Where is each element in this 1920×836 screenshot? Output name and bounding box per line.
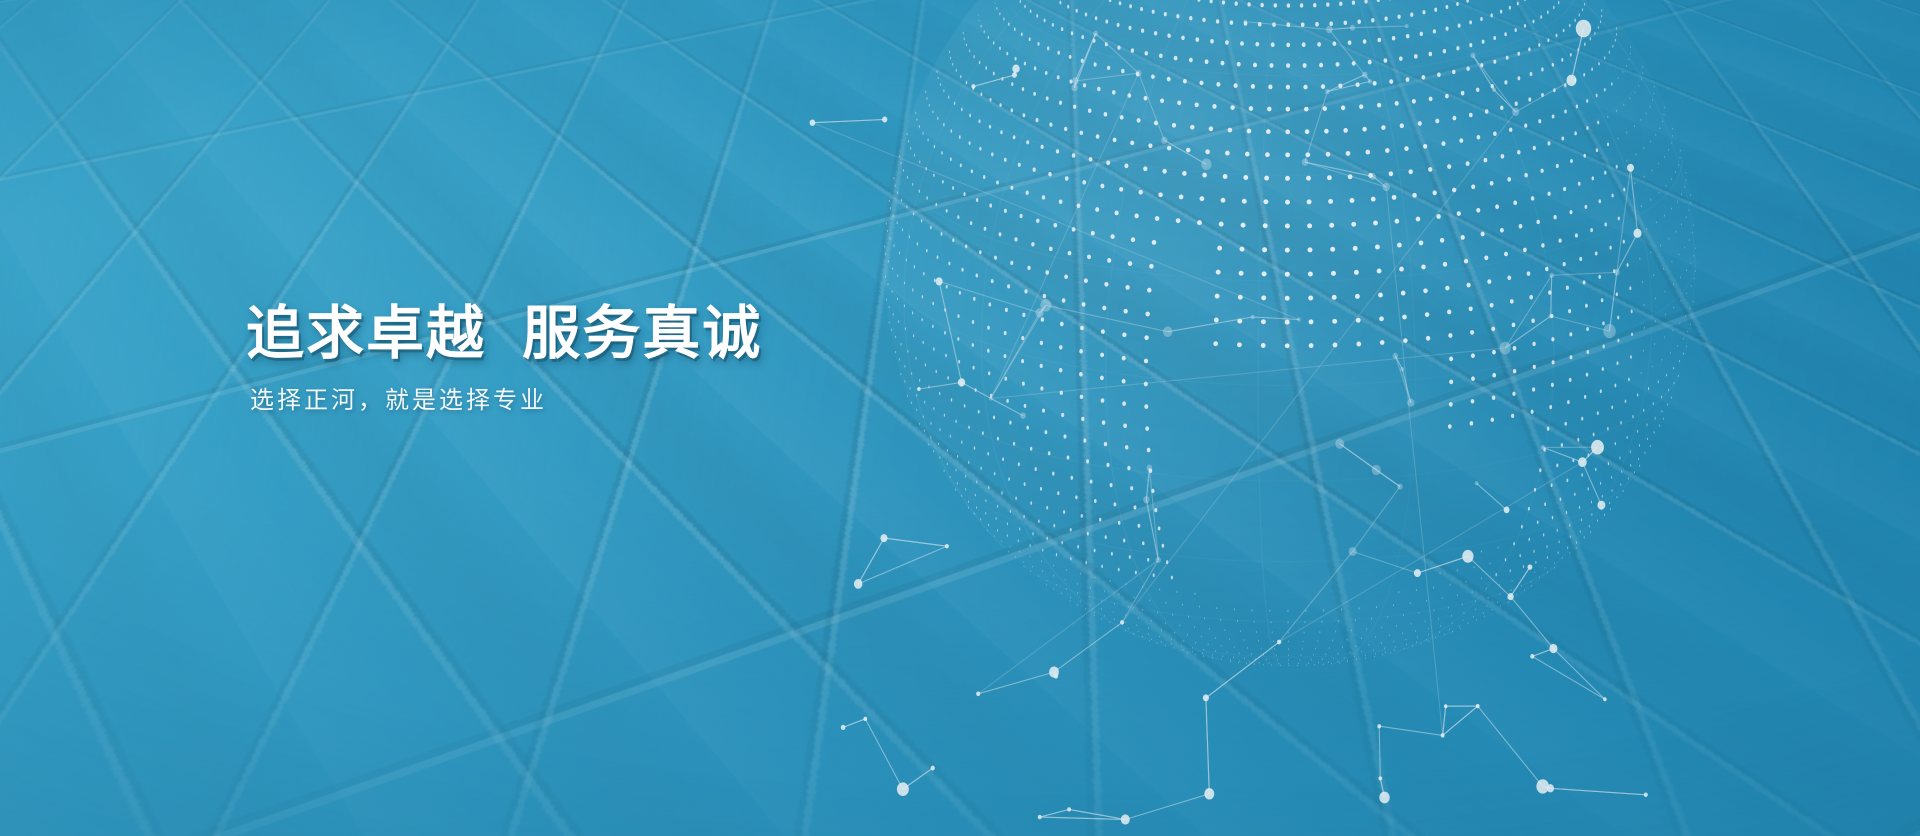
page-subtitle: 选择正河，就是选择专业 bbox=[250, 384, 1066, 418]
banner-stage: 追求卓越 服务真诚 选择正河，就是选择专业 bbox=[0, 0, 1920, 836]
banner-copy: 追求卓越 服务真诚 选择正河，就是选择专业 bbox=[246, 300, 1066, 418]
page-title: 追求卓越 服务真诚 bbox=[246, 300, 1066, 368]
